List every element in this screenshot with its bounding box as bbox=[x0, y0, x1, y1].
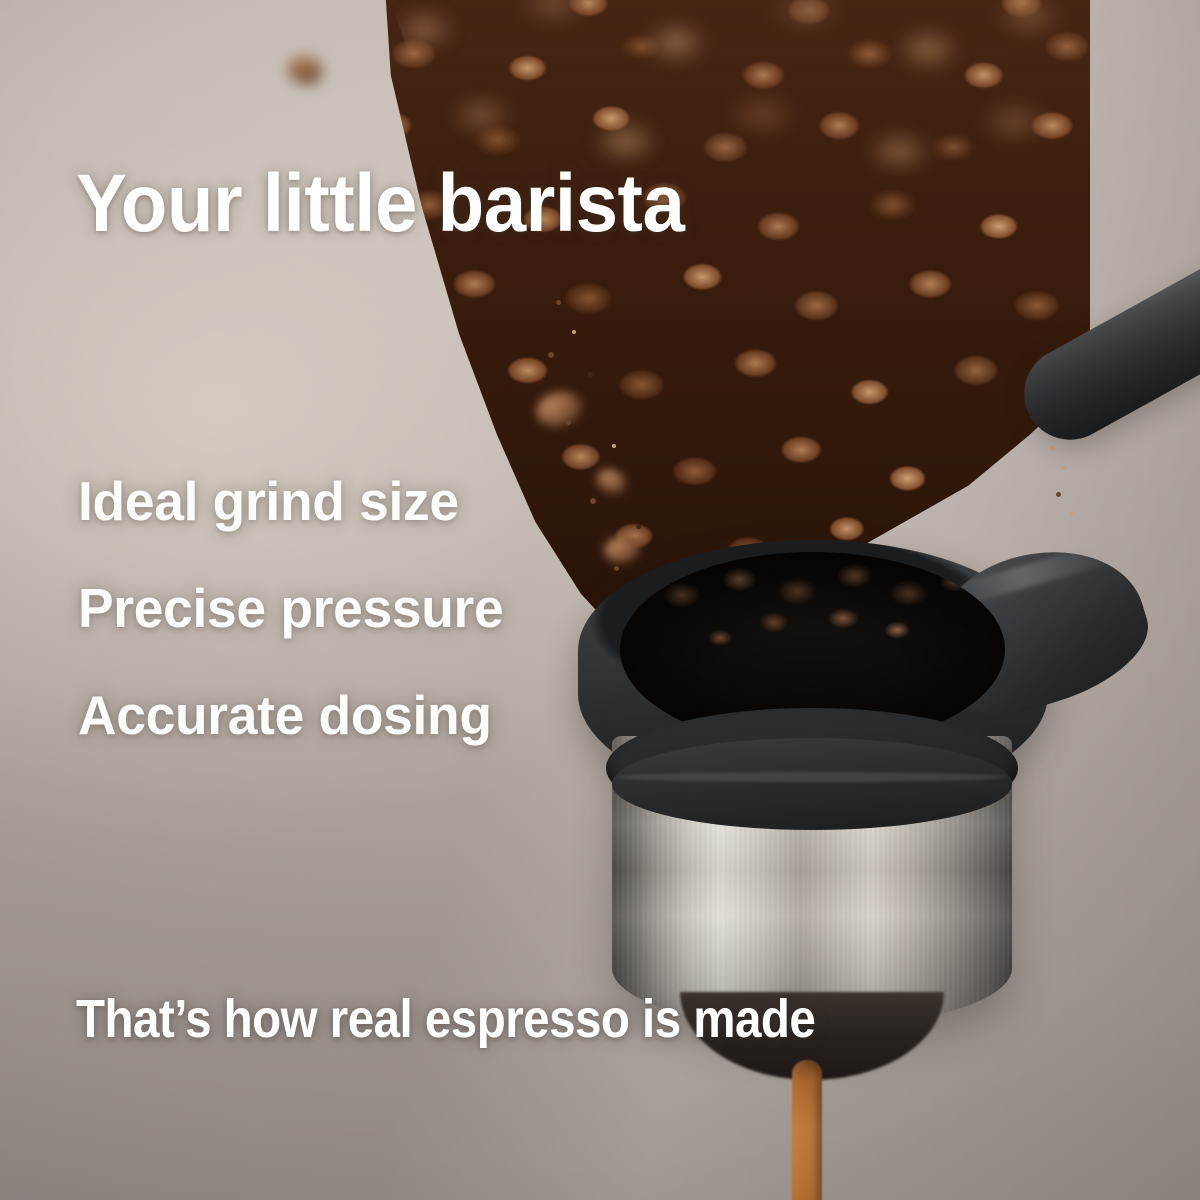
feature-item-pressure: Precise pressure bbox=[78, 555, 503, 662]
feature-item-grind-size: Ideal grind size bbox=[78, 448, 503, 555]
product-poster: Your little barista Ideal grind size Pre… bbox=[0, 0, 1200, 1200]
page-title: Your little barista bbox=[76, 163, 684, 245]
feature-item-dosing: Accurate dosing bbox=[78, 662, 503, 769]
feature-list: Ideal grind size Precise pressure Accura… bbox=[78, 448, 517, 769]
tagline: That’s how real espresso is made bbox=[76, 992, 815, 1046]
marketing-copy: Your little barista Ideal grind size Pre… bbox=[0, 0, 1200, 1200]
